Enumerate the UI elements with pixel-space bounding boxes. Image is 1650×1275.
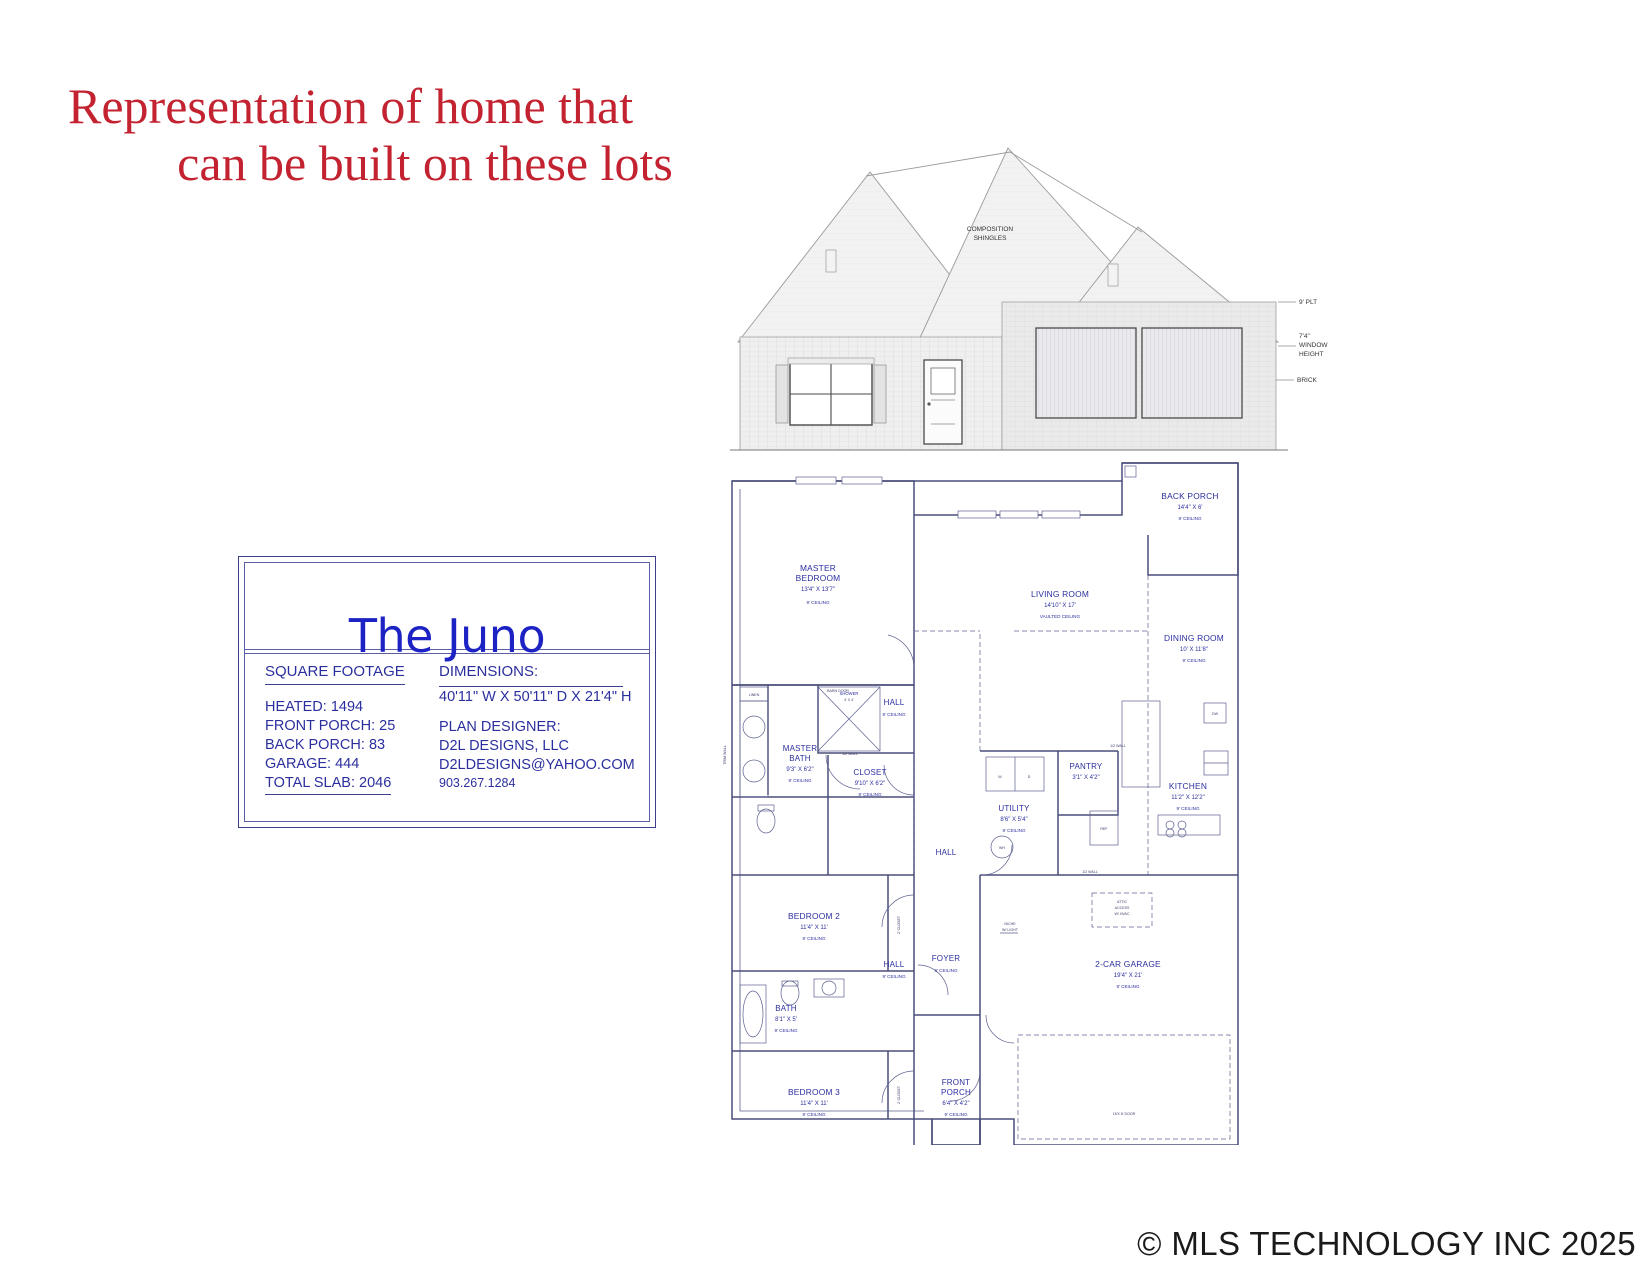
dimensions-heading: DIMENSIONS: (439, 662, 579, 684)
square-footage-column: SQUARE FOOTAGE HEATED: 1494 FRONT PORCH:… (265, 662, 445, 795)
room-dim-bedroom-3: 11'4" X 11' (800, 1101, 828, 1107)
spacer-2 (439, 707, 639, 718)
sf-row-front-porch: FRONT PORCH: 25 (265, 717, 445, 736)
sf-value-back-porch: 83 (369, 737, 385, 753)
room-dim-dining-room: 10' X 11'8" (1180, 647, 1208, 653)
room-label-dining-room: DINING ROOM (1164, 633, 1224, 643)
label-closet-vert-1: 2' CLOSET (897, 915, 901, 934)
label-attic-2: ACCESS (1115, 906, 1130, 910)
square-footage-heading: SQUARE FOOTAGE (265, 662, 405, 685)
room-ceiling-master-bath: 9' CEILING (788, 778, 812, 783)
label-garage-door: 16'X 8' DOOR (1113, 1112, 1136, 1116)
label-composition-shingles-line2: SHINGLES (974, 235, 1008, 242)
sf-row-garage: GARAGE: 444 (265, 755, 445, 774)
sf-value-garage: 444 (335, 756, 359, 772)
window-living-1 (958, 511, 996, 518)
label-barn-door: BARN DOOR (827, 689, 849, 693)
room-label-bedroom-3: BEDROOM 3 (788, 1087, 840, 1097)
door-swing-utility (982, 845, 1012, 875)
room-ceiling-foyer: 9' CEILING (934, 968, 958, 973)
attic-access-box (1092, 893, 1152, 927)
room-dim-bedroom-2: 11'4" X 11' (800, 925, 828, 931)
room-dim-bath: 8'1" X 5' (775, 1017, 797, 1023)
door-swing-garage (986, 1015, 1014, 1043)
room-label-hall-3: HALL (884, 960, 905, 969)
page-title: Representation of home that can be built… (68, 78, 828, 192)
room-ceiling-hall-3: 9' CEILING (882, 974, 906, 979)
label-closet-vert-2: 2' CLOSET (897, 1085, 901, 1104)
door-swing-hall (884, 765, 914, 795)
sf-label-heated: HEATED: (265, 699, 327, 715)
garage-door-swing (1018, 1035, 1230, 1139)
room-label-hall-1: HALL (884, 698, 905, 707)
spacer (265, 687, 445, 698)
room-dim-closet: 9'10" X 6'2" (855, 781, 886, 787)
room-label-bedroom-2: BEDROOM 2 (788, 911, 840, 921)
room-label-utility: UTILITY (998, 804, 1030, 813)
label-ref: REF (1100, 827, 1108, 831)
plan-designer-phone: 903.267.1284 (439, 775, 639, 792)
burner-4 (1178, 829, 1186, 837)
room-ceiling-kitchen: 9' CEILING (1176, 806, 1200, 811)
window-living-3 (1042, 511, 1080, 518)
room-label-master-bedroom-1: MASTER (800, 563, 836, 573)
toilet-tank-master (758, 805, 774, 811)
roof-vent-left (826, 250, 836, 272)
sf-value-total-slab: 2046 (359, 775, 391, 791)
sf-value-front-porch: 25 (379, 718, 395, 734)
garage-door-left (1036, 328, 1136, 418)
room-ceiling-front-porch: 9' CEILING (944, 1112, 968, 1117)
label-window-height-1: 7'4" (1299, 333, 1310, 340)
porch-post-back (1125, 466, 1136, 477)
kitchen-counter-range (1158, 815, 1220, 835)
label-knee-wall-3: 1/2 WALL (1082, 870, 1098, 874)
room-ceiling-dining-room: 9' CEILING (1182, 658, 1206, 663)
toilet-master (757, 809, 775, 833)
sf-row-total-slab-wrap: TOTAL SLAB: 2046 (265, 774, 445, 795)
room-dim-utility: 8'6" X 5'4" (1000, 817, 1027, 823)
tub-hall-bath (740, 985, 766, 1043)
front-porch-outline (932, 1119, 980, 1145)
dimensions-designer-column: DIMENSIONS: 40'11" W X 50'11" D X 21'4" … (439, 662, 639, 792)
sf-label-total-slab: TOTAL SLAB: (265, 775, 355, 791)
sf-row-total-slab: TOTAL SLAB: 2046 (265, 774, 391, 795)
label-dw: DW (1212, 712, 1219, 716)
room-ceiling-closet: 9' CEILING (858, 792, 882, 797)
room-label-living-room: LIVING ROOM (1031, 589, 1089, 599)
vanity-hall-bath (814, 979, 844, 997)
burner-2 (1178, 821, 1186, 829)
dimensions-value: 40'11" W X 50'11" D X 21'4" H (439, 686, 623, 707)
garage-door-right (1142, 328, 1242, 418)
sf-value-heated: 1494 (331, 699, 363, 715)
shower-cross (818, 687, 880, 751)
room-label-back-porch: BACK PORCH (1161, 491, 1218, 501)
door-knob-icon (927, 402, 930, 405)
room-label-master-bath-1: MASTER (783, 744, 818, 753)
label-niche-1: NICHE (1004, 922, 1016, 926)
sf-label-front-porch: FRONT PORCH: (265, 718, 375, 734)
label-knee-wall-1: 1/2 WALL (842, 752, 858, 756)
room-ceiling-utility: 9' CEILING (1002, 828, 1026, 833)
shutter-left (776, 365, 788, 423)
window-left-header (788, 358, 874, 364)
label-shower-dim: 4' X 4' (844, 698, 854, 702)
room-ceiling-hall-1: 9' CEILING (882, 712, 906, 717)
label-wh: WH (999, 846, 1005, 850)
sf-label-garage: GARAGE: (265, 756, 331, 772)
label-attic-3: W/ HVAC (1114, 912, 1130, 916)
label-attic-1: ATTIC (1117, 900, 1128, 904)
burner-3 (1166, 829, 1174, 837)
plan-designer-company: D2L DESIGNS, LLC (439, 737, 639, 756)
front-door-lite (931, 368, 955, 394)
window-master-1 (796, 477, 836, 484)
sf-row-back-porch: BACK PORCH: 83 (265, 736, 445, 755)
label-trim-wall: TRIM WALL (723, 745, 727, 764)
burner-1 (1166, 821, 1174, 829)
room-ceiling-bedroom-3: 9' CEILING (802, 1112, 826, 1117)
label-window-height-3: HEIGHT (1299, 351, 1324, 358)
label-dryer: D (1028, 775, 1031, 779)
wall-utility (980, 751, 1058, 875)
plan-designer-email: D2LDESIGNS@YAHOO.COM (439, 756, 639, 775)
room-ceiling-bath: 9' CEILING (774, 1028, 798, 1033)
label-washer: W (998, 775, 1002, 779)
shutter-right (874, 365, 886, 423)
room-dim-garage: 19'4" X 21' (1114, 973, 1142, 979)
plan-info-block: The Juno SQUARE FOOTAGE HEATED: 1494 FRO… (238, 556, 656, 828)
window-master-2 (842, 477, 882, 484)
tub-basin (743, 991, 763, 1037)
room-label-pantry: PANTRY (1070, 762, 1103, 771)
room-label-foyer: FOYER (932, 954, 961, 963)
sf-label-back-porch: BACK PORCH: (265, 737, 365, 753)
room-label-hall-2: HALL (936, 848, 957, 857)
mls-copyright: © MLS TECHNOLOGY INC 2025 (1137, 1225, 1636, 1263)
wall-master-bedroom (732, 481, 914, 685)
sink-master-1 (743, 716, 765, 738)
plan-name: The Juno (239, 609, 655, 663)
vanity-master (740, 701, 768, 797)
room-ceiling-living-room: VAULTED CEILING (1040, 614, 1081, 619)
room-label-kitchen: KITCHEN (1169, 781, 1207, 791)
room-dim-pantry: 3'1" X 4'2" (1072, 775, 1099, 781)
room-label-bath: BATH (775, 1004, 797, 1013)
door-swing-master (888, 635, 914, 669)
room-label-master-bedroom-2: BEDROOM (796, 573, 841, 583)
label-composition-shingles-line1: COMPOSITION (967, 226, 1014, 233)
sink-master-2 (743, 760, 765, 782)
toilet-hall (781, 981, 799, 1005)
room-dim-front-porch: 6'4" X 4'2" (942, 1101, 969, 1107)
room-ceiling-garage: 9' CEILING (1116, 984, 1140, 989)
label-window-height-2: WINDOW (1299, 342, 1328, 349)
label-plate-height: 9' PLT (1299, 299, 1317, 306)
roof-vent-right (1108, 264, 1118, 286)
room-label-front-porch-1: FRONT (942, 1078, 971, 1087)
room-dim-back-porch: 14'4" X 6' (1177, 505, 1202, 511)
room-dim-master-bath: 9'3" X 6'2" (786, 767, 813, 773)
label-niche-2: W/ LIGHT (1002, 928, 1019, 932)
room-ceiling-master-bedroom: 9' CEILING (806, 600, 830, 605)
wall-shower-left (818, 685, 914, 753)
floor-plan-drawing: LINEN SHOWER 4' X 4' W D WH REF DW ATTIC… (718, 455, 1278, 1145)
plan-designer-heading: PLAN DESIGNER: (439, 718, 639, 737)
room-label-garage: 2-CAR GARAGE (1095, 959, 1161, 969)
label-brick: BRICK (1297, 377, 1318, 384)
room-dim-master-bedroom: 13'4" X 13'7" (801, 587, 835, 593)
room-label-closet: CLOSET (853, 768, 886, 777)
room-label-master-bath-2: BATH (789, 754, 811, 763)
room-ceiling-back-porch: 9' CEILING (1178, 516, 1202, 521)
wall-living-top (914, 481, 1122, 515)
wall-pantry (1058, 751, 1118, 815)
sink-hall-bath (822, 981, 836, 995)
elevation-drawing: COMPOSITION SHINGLES 9' PLT 7'4" WINDOW … (718, 132, 1328, 452)
label-knee-wall-2: 1/2 WALL (1110, 744, 1126, 748)
room-dim-kitchen: 11'2" X 12'2" (1171, 795, 1204, 801)
window-living-2 (1000, 511, 1038, 518)
page-title-line-1: Representation of home that (68, 78, 828, 135)
label-linen: LINEN (749, 693, 760, 697)
page-title-line-2: can be built on these lots (68, 135, 828, 192)
room-label-front-porch-2: PORCH (941, 1088, 971, 1097)
kitchen-island (1122, 701, 1160, 787)
sf-row-heated: HEATED: 1494 (265, 698, 445, 717)
room-dim-living-room: 14'10" X 17' (1044, 603, 1076, 609)
room-ceiling-bedroom-2: 9' CEILING (802, 936, 826, 941)
